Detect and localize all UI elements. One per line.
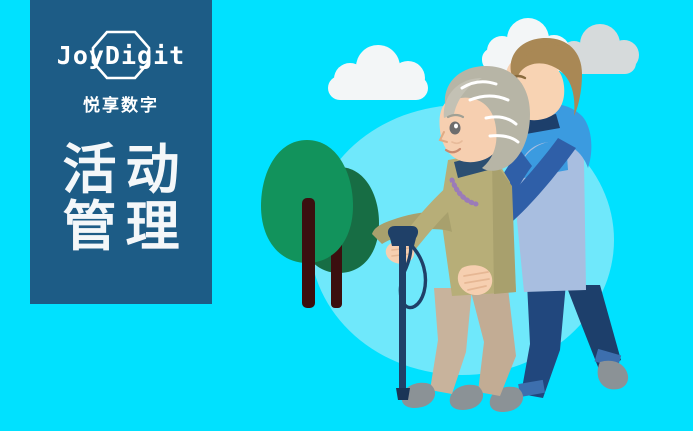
cane-tip [396, 388, 410, 400]
tree-front-trunk [302, 198, 315, 308]
elderly-woman-head [440, 66, 531, 171]
page-title: 活动 管理 [54, 142, 189, 255]
page-title-line-1: 活动 [54, 142, 189, 199]
poster-canvas: JoyDigit 悦享数字 活动 管理 [0, 0, 693, 431]
brand-logo: JoyDigit [51, 28, 191, 82]
brand-sub-name: 悦享数字 [83, 91, 159, 116]
cane-handle [388, 226, 418, 246]
cane-shaft [399, 240, 406, 397]
brand-wordmark: JoyDigit [57, 43, 185, 68]
page-title-line-2: 管理 [54, 199, 189, 256]
title-panel: JoyDigit 悦享数字 活动 管理 [30, 0, 212, 304]
